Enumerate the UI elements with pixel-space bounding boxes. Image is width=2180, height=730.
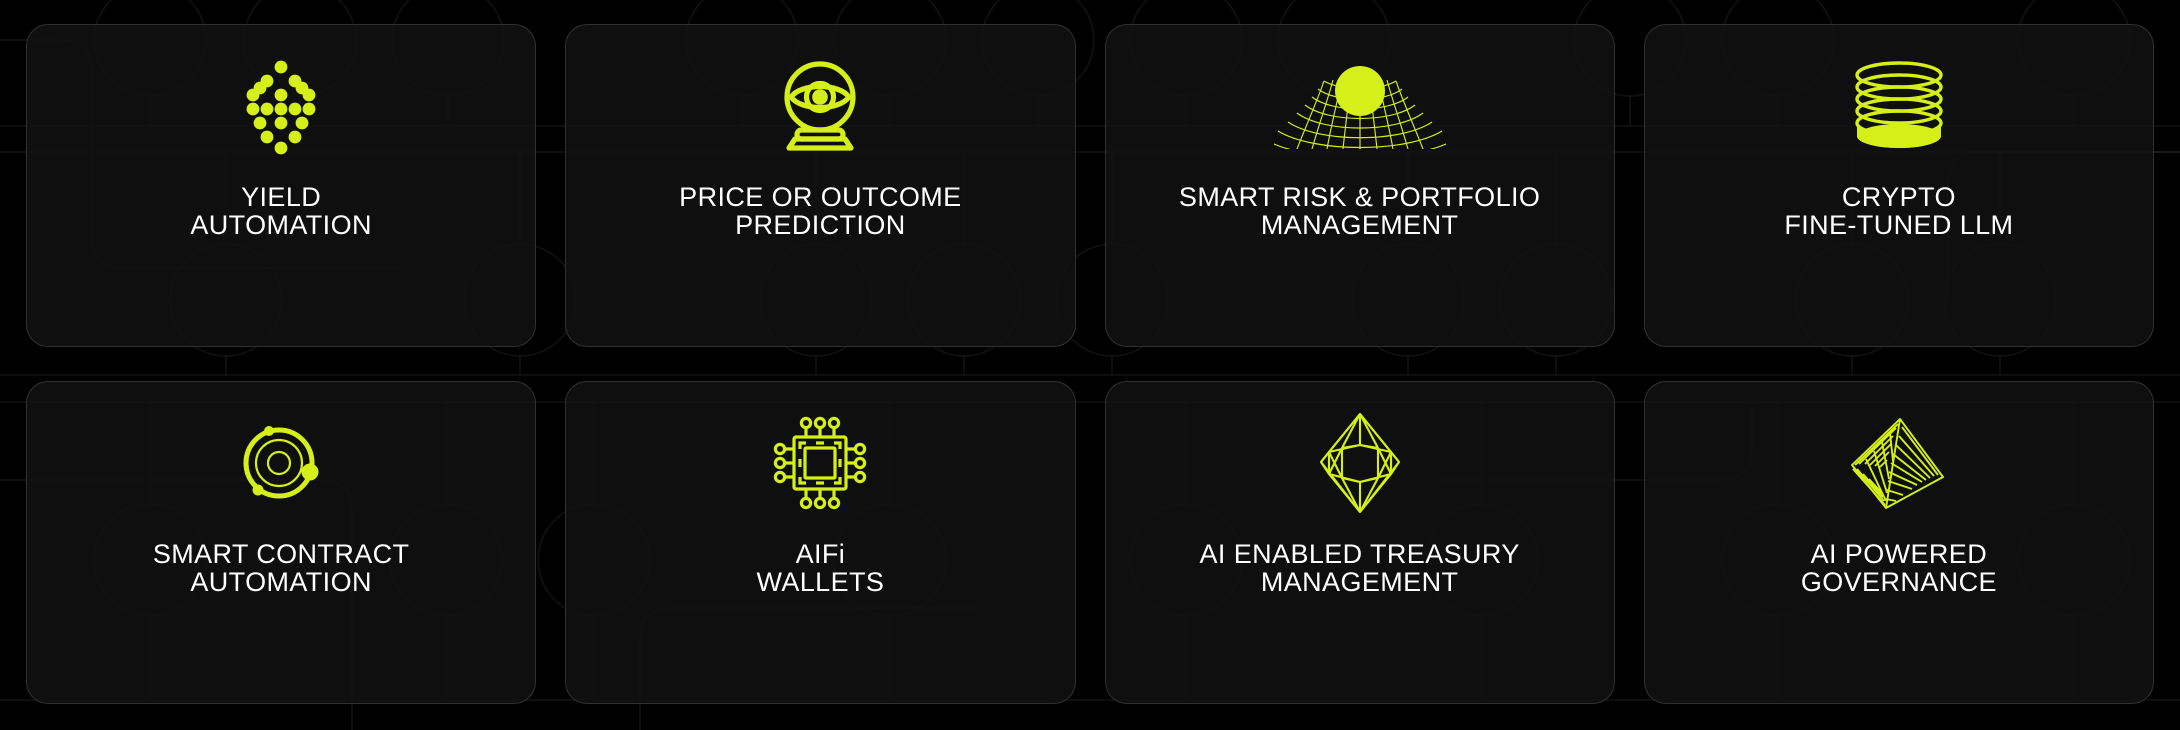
- feature-card-smart-contract-automation[interactable]: SMART CONTRACT AUTOMATION: [26, 381, 536, 704]
- crystal-ball-eye-icon: [725, 51, 915, 161]
- feature-card-ai-enabled-treasury-management[interactable]: AI ENABLED TREASURY MANAGEMENT: [1105, 381, 1615, 704]
- cards-container: YIELD AUTOMATION PRICE OR OUTCOME PREDIC…: [0, 0, 2180, 730]
- feature-card-crypto-fine-tuned-llm[interactable]: CRYPTO FINE-TUNED LLM: [1644, 24, 2154, 347]
- coil-cylinder-icon: [1804, 51, 1994, 161]
- card-title: AI ENABLED TREASURY MANAGEMENT: [1186, 540, 1534, 597]
- spacetime-grid-sphere-icon: [1265, 51, 1455, 161]
- card-title: PRICE OR OUTCOME PREDICTION: [665, 183, 975, 240]
- feature-card-ai-powered-governance[interactable]: AI POWERED GOVERNANCE: [1644, 381, 2154, 704]
- wireframe-pyramid-icon: [1804, 408, 1994, 518]
- wireframe-diamond-icon: [1265, 408, 1455, 518]
- microchip-icon: [725, 408, 915, 518]
- card-title: CRYPTO FINE-TUNED LLM: [1770, 183, 2027, 240]
- feature-card-grid-page: YIELD AUTOMATION PRICE OR OUTCOME PREDIC…: [0, 0, 2180, 730]
- card-title: SMART CONTRACT AUTOMATION: [139, 540, 424, 597]
- feature-card-price-or-outcome-prediction[interactable]: PRICE OR OUTCOME PREDICTION: [565, 24, 1075, 347]
- feature-card-yield-automation[interactable]: YIELD AUTOMATION: [26, 24, 536, 347]
- card-title: AIFi WALLETS: [742, 540, 898, 597]
- dot-diamond-icon: [186, 51, 376, 161]
- card-title: AI POWERED GOVERNANCE: [1787, 540, 2011, 597]
- card-title: SMART RISK & PORTFOLIO MANAGEMENT: [1165, 183, 1554, 240]
- orbit-rings-icon: [186, 408, 376, 518]
- feature-card-smart-risk-portfolio-management[interactable]: SMART RISK & PORTFOLIO MANAGEMENT: [1105, 24, 1615, 347]
- card-title: YIELD AUTOMATION: [176, 183, 386, 240]
- feature-card-aifi-wallets[interactable]: AIFi WALLETS: [565, 381, 1075, 704]
